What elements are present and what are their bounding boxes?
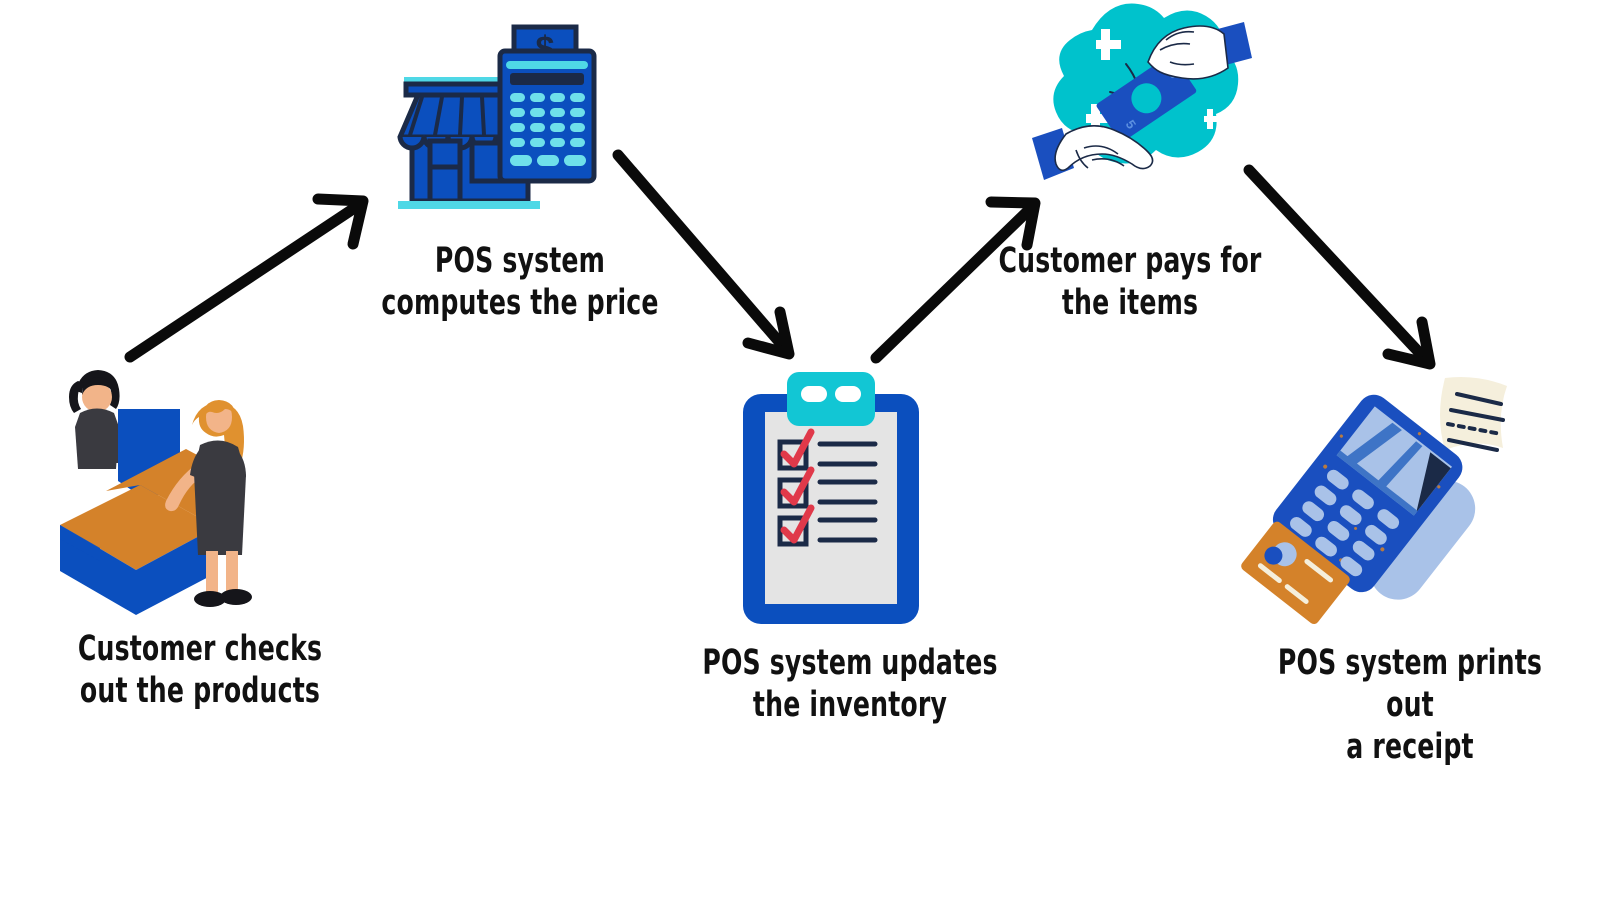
step-checkout-illustration: [40, 365, 280, 625]
clipboard-clip-icon: [787, 372, 875, 426]
step-customer-pays-illustration: 5 5: [1018, 0, 1258, 215]
cash-register-icon: $: [500, 27, 594, 181]
caption-update-inventory: POS system updates the inventory: [686, 642, 1014, 726]
storefront-cash-register-icon: $: [390, 15, 620, 215]
diagram-canvas: Customer checks out the products: [0, 0, 1600, 901]
checkout-counter-icon: [40, 365, 280, 625]
clipboard-checklist-icon: [735, 368, 930, 636]
card-terminal-receipt-icon: [1235, 362, 1535, 637]
receipt-paper-icon: [1440, 377, 1507, 450]
arrow-checkout-to-price: [130, 199, 363, 357]
step-compute-price-illustration: $: [390, 15, 620, 215]
caption-compute-price: POS system computes the price: [368, 240, 672, 324]
cash-handover-icon: 5 5: [1018, 0, 1258, 215]
step-print-receipt-illustration: [1235, 362, 1535, 637]
caption-print-receipt: POS system prints out a receipt: [1254, 642, 1566, 768]
caption-checkout: Customer checks out the products: [40, 628, 360, 712]
step-update-inventory-illustration: [735, 368, 930, 636]
cashier-figure: [69, 370, 122, 469]
caption-customer-pays: Customer pays for the items: [982, 240, 1278, 324]
